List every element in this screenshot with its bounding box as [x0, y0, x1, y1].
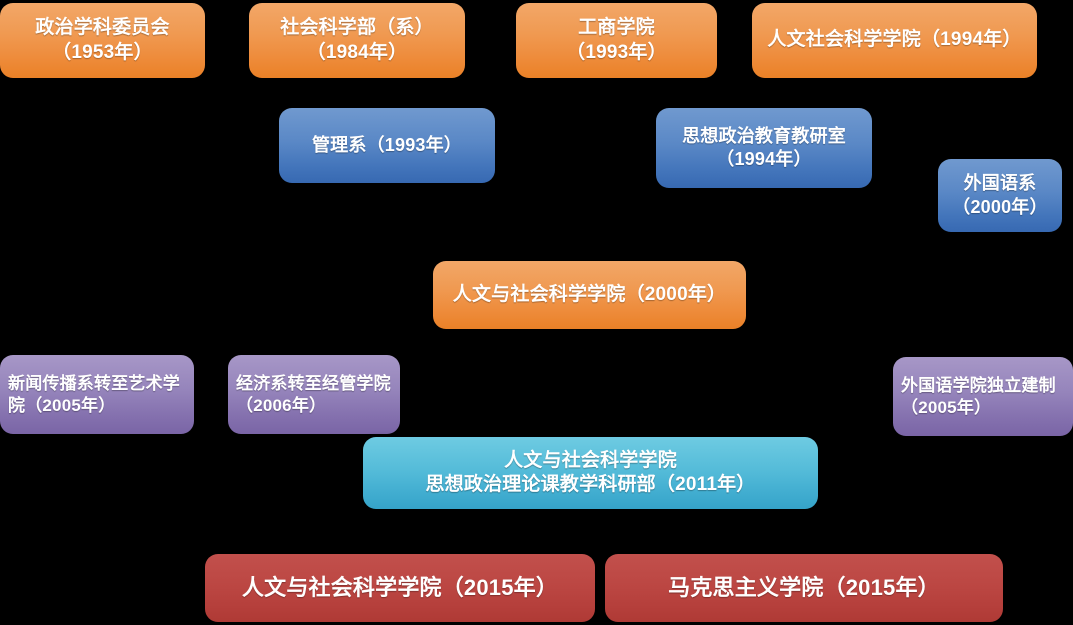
node-business-school-1993[interactable]: 工商学院 （1993年） [516, 3, 717, 78]
node-management-department-1993[interactable]: 管理系（1993年） [279, 108, 495, 183]
node-marxism-college-2015[interactable]: 马克思主义学院（2015年） [605, 554, 1003, 622]
node-humanities-social-science-college-1994[interactable]: 人文社会科学学院（1994年） [752, 3, 1037, 78]
node-foreign-language-department-2000[interactable]: 外国语系 （2000年） [938, 159, 1062, 232]
node-ideological-political-education-office-1994[interactable]: 思想政治教育教研室 （1994年） [656, 108, 872, 188]
node-ideological-political-theory-teaching-research-2011[interactable]: 人文与社会科学学院 思想政治理论课教学科研部（2011年） [363, 437, 818, 509]
node-humanities-social-science-college-2015[interactable]: 人文与社会科学学院（2015年） [205, 554, 595, 622]
node-foreign-language-college-independent-2005[interactable]: 外国语学院独立建制（2005年） [893, 357, 1073, 436]
node-social-science-department-1984[interactable]: 社会科学部（系） （1984年） [249, 3, 465, 78]
node-journalism-transfer-art-college-2005[interactable]: 新闻传播系转至艺术学院（2005年） [0, 355, 194, 434]
diagram-canvas: 政治学科委员会 （1953年） 社会科学部（系） （1984年） 工商学院 （1… [0, 0, 1073, 625]
node-humanities-social-science-college-2000[interactable]: 人文与社会科学学院（2000年） [433, 261, 746, 329]
node-political-science-committee-1953[interactable]: 政治学科委员会 （1953年） [0, 3, 205, 78]
node-economics-transfer-management-college-2006[interactable]: 经济系转至经管学院（2006年） [228, 355, 400, 434]
